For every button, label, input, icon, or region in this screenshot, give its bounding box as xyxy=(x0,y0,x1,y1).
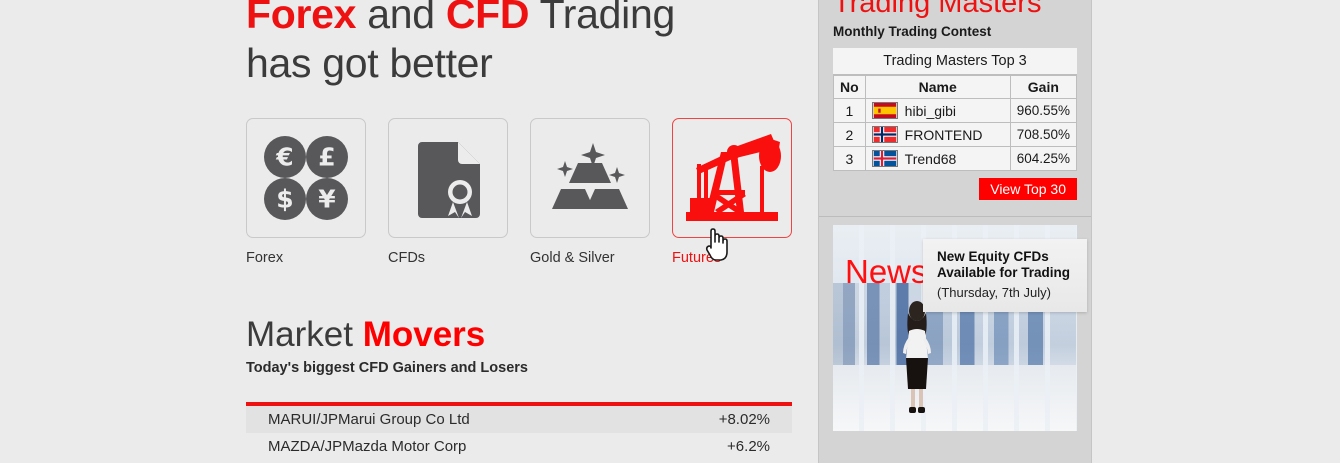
svg-text:£: £ xyxy=(318,143,335,172)
view-top-30-button[interactable]: View Top 30 xyxy=(979,178,1077,200)
category-tile-gold-silver-box[interactable] xyxy=(530,118,650,238)
category-tile-cfds[interactable]: CFDs xyxy=(388,118,508,266)
right-sidebar: Trading Masters Monthly Trading Contest … xyxy=(818,0,1092,463)
hero-word-cfd: CFD xyxy=(446,0,529,37)
table-row[interactable]: 3 Trend68 xyxy=(834,147,1077,171)
trader-name: hibi_gibi xyxy=(905,103,956,119)
market-movers-row-change: +6.2% xyxy=(727,438,770,455)
market-movers-row-name: MARUI/JPMarui Group Co Ltd xyxy=(268,411,470,428)
news-date: (Thursday, 7th July) xyxy=(937,285,1075,300)
name-cell: FRONTEND xyxy=(865,123,1010,147)
category-tile-cfds-box[interactable] xyxy=(388,118,508,238)
spain-flag-icon xyxy=(872,102,898,119)
category-tile-futures-box[interactable] xyxy=(672,118,792,238)
trading-masters-panel: Trading Masters Monthly Trading Contest … xyxy=(819,0,1091,216)
market-movers-row[interactable]: MAZDA/JPMazda Motor Corp +6.2% xyxy=(246,433,792,460)
hero-word-and: and xyxy=(356,0,446,37)
currency-coins-icon: € £ $ ¥ xyxy=(263,135,349,221)
market-movers-row-change: +8.02% xyxy=(719,411,770,428)
news-panel[interactable]: News New Equity CFDs Available for Tradi… xyxy=(819,217,1091,452)
svg-text:$: $ xyxy=(276,185,293,214)
hero-word-trading: Trading xyxy=(529,0,675,37)
svg-text:€: € xyxy=(275,143,293,172)
rank-cell: 2 xyxy=(834,123,866,147)
news-headline-line2: Available for Trading xyxy=(937,265,1075,281)
column-header-no: No xyxy=(834,76,866,99)
trader-name: FRONTEND xyxy=(905,127,983,143)
market-movers-title: Market Movers xyxy=(246,315,792,355)
businesswoman-silhouette xyxy=(896,297,938,415)
iceland-flag-icon xyxy=(872,150,898,167)
svg-text:¥: ¥ xyxy=(318,185,336,214)
news-label: News xyxy=(845,255,928,288)
table-row[interactable]: 2 FRONTEND xyxy=(834,123,1077,147)
category-label-cfds: CFDs xyxy=(388,250,508,266)
category-tile-forex[interactable]: € £ $ ¥ Forex xyxy=(246,118,366,266)
rank-cell: 1 xyxy=(834,99,866,123)
market-movers-subtitle: Today's biggest CFD Gainers and Losers xyxy=(246,360,792,376)
table-row[interactable]: 1 hibi_gibi 960.55% xyxy=(834,99,1077,123)
market-movers-title-part1: Market xyxy=(246,315,363,354)
market-movers-row[interactable]: MARUI/JPMarui Group Co Ltd +8.02% xyxy=(246,406,792,433)
column-header-gain: Gain xyxy=(1010,76,1076,99)
page-root: Forex and CFD Trading has got better € £… xyxy=(0,0,1340,463)
category-tile-futures[interactable]: Futures xyxy=(672,118,792,266)
category-label-forex: Forex xyxy=(246,250,366,266)
name-cell: Trend68 xyxy=(865,147,1010,171)
column-header-name: Name xyxy=(865,76,1010,99)
category-label-futures: Futures xyxy=(672,250,792,266)
news-card[interactable]: New Equity CFDs Available for Trading (T… xyxy=(923,239,1087,312)
table-header-row: No Name Gain xyxy=(834,76,1077,99)
rank-cell: 3 xyxy=(834,147,866,171)
category-tile-gold-silver[interactable]: Gold & Silver xyxy=(530,118,650,266)
norway-flag-icon xyxy=(872,126,898,143)
gain-cell: 960.55% xyxy=(1010,99,1076,123)
hero-word-forex: Forex xyxy=(246,0,356,37)
market-movers-section: Market Movers Today's biggest CFD Gainer… xyxy=(246,315,792,460)
trading-masters-table-caption: Trading Masters Top 3 xyxy=(833,48,1077,75)
gold-bars-icon xyxy=(547,141,633,215)
market-movers-title-part2: Movers xyxy=(363,315,486,354)
hero-headline: Forex and CFD Trading has got better xyxy=(246,0,792,88)
trading-masters-subtitle: Monthly Trading Contest xyxy=(833,24,1077,39)
oil-pump-jack-icon xyxy=(682,130,782,226)
trading-masters-title: Trading Masters xyxy=(833,0,1077,18)
trading-masters-table: Trading Masters Top 3 No Name Gain 1 xyxy=(833,48,1077,171)
name-cell: hibi_gibi xyxy=(865,99,1010,123)
hero-line-2: has got better xyxy=(246,40,493,86)
hand-pointer-cursor-icon xyxy=(702,228,732,264)
gain-cell: 708.50% xyxy=(1010,123,1076,147)
category-label-gold-silver: Gold & Silver xyxy=(530,250,650,266)
trader-name: Trend68 xyxy=(905,151,957,167)
certificate-document-icon xyxy=(412,138,484,218)
market-movers-row-name: MAZDA/JPMazda Motor Corp xyxy=(268,438,466,455)
gain-cell: 604.25% xyxy=(1010,147,1076,171)
category-tile-forex-box[interactable]: € £ $ ¥ xyxy=(246,118,366,238)
news-headline-line1: New Equity CFDs xyxy=(937,249,1075,265)
